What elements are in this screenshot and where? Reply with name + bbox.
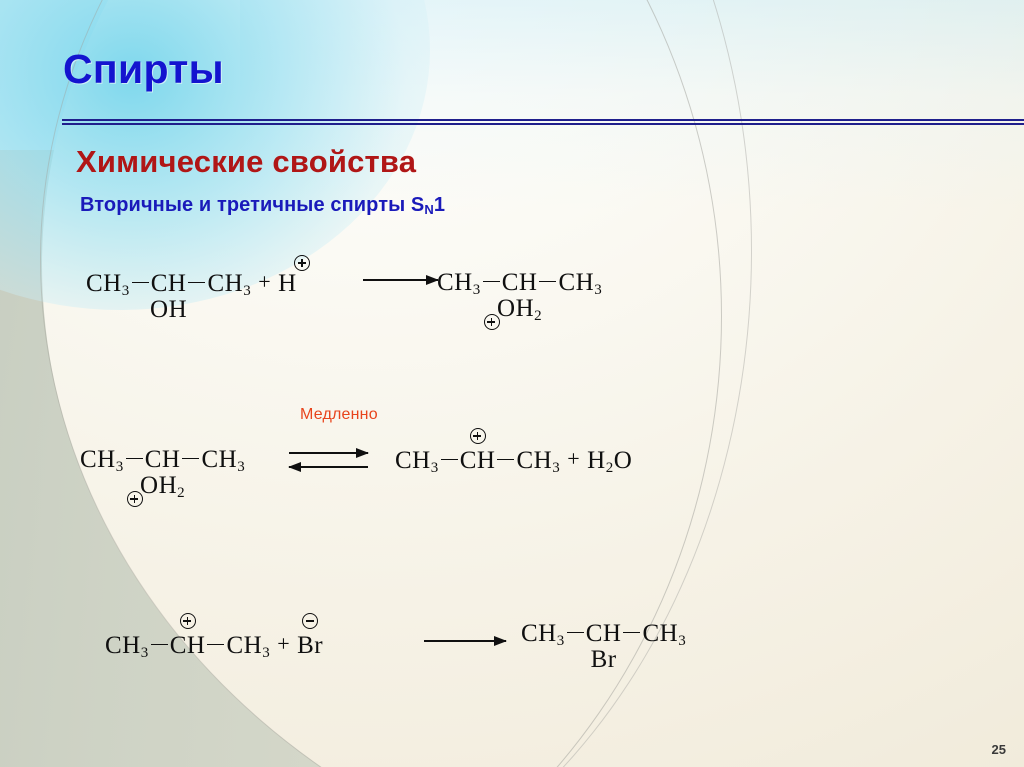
alkyl-center: CH Br bbox=[586, 620, 622, 648]
section-heading: Химические свойства bbox=[76, 144, 416, 180]
slide-number: 25 bbox=[992, 742, 1006, 757]
substituent-label: Br bbox=[591, 646, 617, 673]
bond-line bbox=[497, 459, 514, 460]
bond-line bbox=[539, 281, 556, 282]
reaction-1-product: CH3CH OH2 CH3 bbox=[437, 269, 602, 299]
reaction-3-product: CH3CH Br CH3 bbox=[521, 620, 686, 650]
substituent-stack: OH bbox=[150, 296, 187, 324]
alkyl-center: CH OH2 bbox=[145, 446, 181, 474]
plus-charge-icon bbox=[484, 314, 500, 330]
alkyl-left: CH3 bbox=[437, 269, 481, 296]
water-byproduct: H2O bbox=[587, 447, 632, 474]
bond-line bbox=[188, 282, 205, 283]
proton: H bbox=[278, 270, 297, 298]
alkyl-right: CH3 bbox=[642, 620, 686, 647]
reaction-3-reactant: CH3CH CH3+Br bbox=[105, 631, 323, 662]
alkyl-center: CH bbox=[460, 447, 496, 475]
alkyl-center: CH OH2 bbox=[502, 269, 538, 297]
alkyl-left: CH3 bbox=[395, 447, 439, 474]
reaction-1-arrow bbox=[363, 279, 438, 281]
substituent-stack: Br bbox=[591, 646, 617, 674]
bond-line bbox=[151, 644, 168, 645]
subheading-subscript: N bbox=[424, 202, 434, 217]
bond-line bbox=[132, 282, 149, 283]
alkyl-left: CH3 bbox=[105, 632, 149, 659]
substituent-stack: OH2 bbox=[497, 295, 542, 324]
reaction-1-reactant: CH3CH OH CH3+H bbox=[86, 269, 297, 300]
equilibrium-arrow-forward bbox=[289, 452, 368, 454]
bond-line bbox=[441, 459, 458, 460]
reaction-2-product: CH3CH CH3+H2O bbox=[395, 446, 632, 477]
reaction-2-reactant: CH3CH OH2 CH3 bbox=[80, 446, 245, 476]
plus-charge-icon bbox=[294, 255, 310, 271]
minus-charge-icon bbox=[302, 613, 318, 629]
bond-line bbox=[182, 458, 199, 459]
alkyl-left: CH3 bbox=[80, 446, 124, 473]
substituent-stack: OH2 bbox=[140, 472, 185, 501]
plus-operator: + bbox=[258, 269, 271, 294]
substituent-label: OH bbox=[150, 296, 187, 323]
plus-operator: + bbox=[277, 631, 290, 656]
bond-line bbox=[207, 644, 224, 645]
alkyl-right: CH3 bbox=[558, 269, 602, 296]
reaction-3-arrow bbox=[424, 640, 506, 642]
alkyl-center: CH bbox=[170, 632, 206, 660]
section-subheading: Вторичные и третичные спирты SN1 bbox=[80, 194, 445, 217]
bond-line bbox=[483, 281, 500, 282]
bond-line bbox=[623, 632, 640, 633]
alkyl-center: CH OH bbox=[151, 270, 187, 298]
bond-line bbox=[126, 458, 143, 459]
subheading-tail: 1 bbox=[434, 194, 445, 216]
plus-charge-icon bbox=[470, 428, 486, 444]
plus-operator: + bbox=[567, 446, 580, 471]
alkyl-left: CH3 bbox=[521, 620, 565, 647]
bond-line bbox=[567, 632, 584, 633]
alkyl-right: CH3 bbox=[516, 447, 560, 474]
alkyl-right: CH3 bbox=[226, 632, 270, 659]
bromide-anion: Br bbox=[297, 632, 323, 660]
substituent-label: OH2 bbox=[497, 295, 542, 322]
alkyl-left: CH3 bbox=[86, 270, 130, 297]
plus-charge-icon bbox=[127, 491, 143, 507]
title-divider bbox=[62, 119, 1024, 128]
equilibrium-arrow-reverse bbox=[289, 466, 368, 468]
substituent-label: OH2 bbox=[140, 472, 185, 499]
page-title: Спирты bbox=[63, 46, 224, 93]
alkyl-right: CH3 bbox=[201, 446, 245, 473]
plus-charge-icon bbox=[180, 613, 196, 629]
alkyl-right: CH3 bbox=[207, 270, 251, 297]
reaction-2-annotation: Медленно bbox=[300, 406, 378, 424]
slide: Спирты Химические свойства Вторичные и т… bbox=[0, 0, 1024, 767]
subheading-text: Вторичные и третичные спирты S bbox=[80, 194, 424, 216]
